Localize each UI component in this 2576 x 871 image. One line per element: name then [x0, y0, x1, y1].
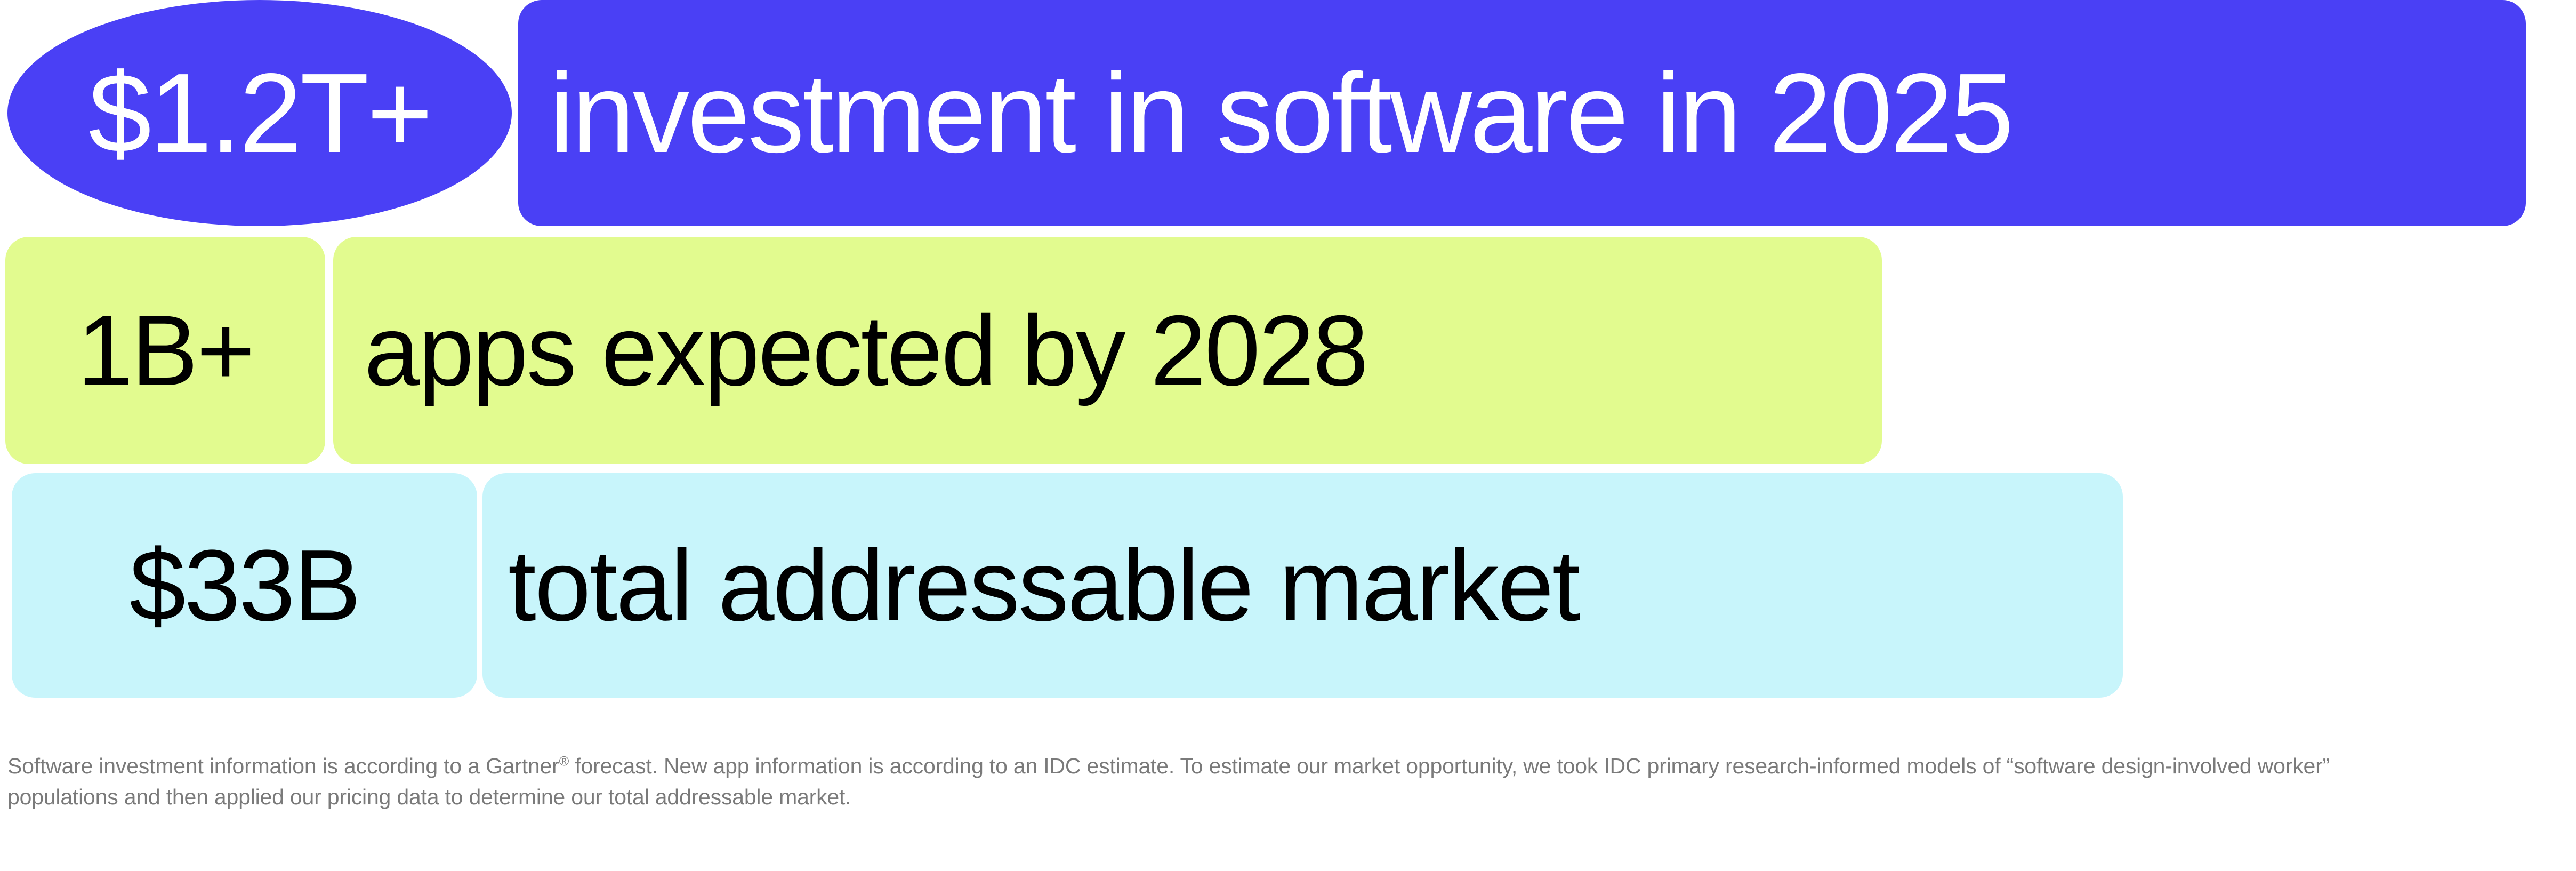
stat-badge-apps-expected: 1B+ — [5, 237, 325, 464]
registered-trademark-icon: ® — [559, 754, 569, 769]
stat-row-apps-expected: 1B+ apps expected by 2028 — [5, 237, 1882, 464]
stat-row-total-addressable-market: $33B total addressable market — [12, 473, 2123, 698]
footnote-disclaimer: Software investment information is accor… — [7, 750, 2396, 812]
stat-badge-total-addressable-market: $33B — [12, 473, 477, 698]
stat-row-software-investment: $1.2T+ investment in software in 2025 — [7, 0, 2526, 226]
stat-label-software-investment: investment in software in 2025 — [518, 0, 2526, 226]
stats-list: $1.2T+ investment in software in 2025 1B… — [0, 0, 2576, 871]
stat-label-apps-expected: apps expected by 2028 — [333, 237, 1882, 464]
stat-label-total-addressable-market: total addressable market — [482, 473, 2123, 698]
footnote-part-one: Software investment information is accor… — [7, 754, 559, 778]
stat-badge-software-investment: $1.2T+ — [7, 0, 512, 226]
